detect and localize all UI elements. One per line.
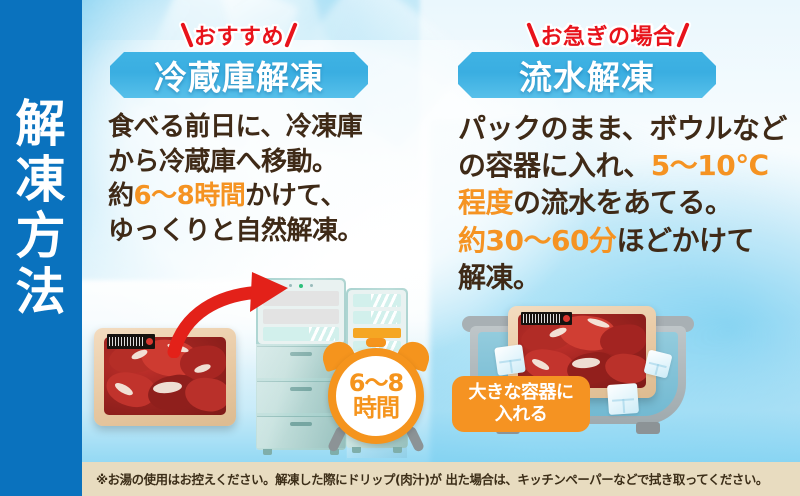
ribbon-label: おすすめ xyxy=(194,19,284,51)
banner-label: 流水解凍 xyxy=(519,51,655,99)
banner-label: 冷蔵庫解凍 xyxy=(154,51,324,99)
illustration-refrigerator-scene: 6〜8 時間 xyxy=(88,270,408,470)
sidebar-title-vertical: 解 凍 方 法 xyxy=(0,96,82,320)
banner-running-water-thaw: 流水解凍 xyxy=(458,52,716,98)
fridge-foot xyxy=(263,449,272,455)
callout-large-container: 大きな容器に 入れる xyxy=(452,376,590,432)
sidebar: 解 凍 方 法 xyxy=(0,0,82,496)
meat-slice xyxy=(603,351,646,386)
label-text-lines xyxy=(523,314,560,322)
infographic-canvas: 解 凍 方 法 おすすめ 冷蔵庫解凍 食べる前日に、冷凍庫 から冷蔵庫へ移動。 … xyxy=(0,0,800,496)
slash-left-icon xyxy=(527,22,540,48)
ice-cube-icon xyxy=(607,383,639,415)
fridge-shelf xyxy=(353,311,401,324)
clock-duration-label: 6〜8 時間 xyxy=(349,371,403,422)
slash-right-icon xyxy=(284,22,297,48)
fridge-shelf xyxy=(353,294,401,307)
banner-refrigerator-thaw: 冷蔵庫解凍 xyxy=(110,52,368,98)
ribbon-in-a-hurry: お急ぎの場合 xyxy=(468,20,748,50)
clock-badge-hours: 6〜8 時間 xyxy=(320,340,432,452)
highlighted-phrase: 約30〜60分 xyxy=(458,224,616,257)
fridge-shelf-accent xyxy=(353,328,401,338)
highlighted-phrase: 6〜8時間 xyxy=(134,181,246,211)
ribbon-label: お急ぎの場合 xyxy=(540,19,675,51)
product-label-sticker xyxy=(521,312,571,326)
product-label-sticker xyxy=(107,334,155,349)
slash-left-icon xyxy=(180,22,193,48)
fridge-led xyxy=(310,284,313,287)
body-copy-right: パックのまま、ボウルなど の容器に入れ、5〜10℃ 程度の流水をあてる。 約30… xyxy=(458,110,800,296)
japan-flag-icon xyxy=(563,315,570,322)
clock-face: 6〜8 時間 xyxy=(328,348,424,444)
illustration-water-basin-scene: 大きな容器に 入れる 約30〜 60分 xyxy=(440,300,780,470)
fridge-led-active xyxy=(299,284,303,288)
ice-cube-icon xyxy=(494,344,526,376)
japan-flag-icon xyxy=(146,338,153,345)
footer-note-bar: ※お湯の使用はお控えください。解凍した際にドリップ(肉汁)が 出た場合は、キッチ… xyxy=(82,462,800,496)
red-curved-arrow-icon xyxy=(166,268,296,358)
footer-note-text: ※お湯の使用はお控えください。解凍した際にドリップ(肉汁)が 出た場合は、キッチ… xyxy=(82,470,768,488)
ribbon-recommended: おすすめ xyxy=(114,20,364,50)
body-copy-left: 食べる前日に、冷凍庫 から冷蔵庫へ移動。 約6〜8時間かけて、 ゆっくりと自然解… xyxy=(108,110,398,248)
label-text-lines xyxy=(109,337,144,346)
callout-label: 大きな容器に 入れる xyxy=(469,382,574,426)
body-text-segment: の流水をあてる。 xyxy=(513,186,732,219)
clock-button-icon xyxy=(366,338,386,347)
slash-right-icon xyxy=(676,22,689,48)
basin-foot xyxy=(636,422,660,434)
